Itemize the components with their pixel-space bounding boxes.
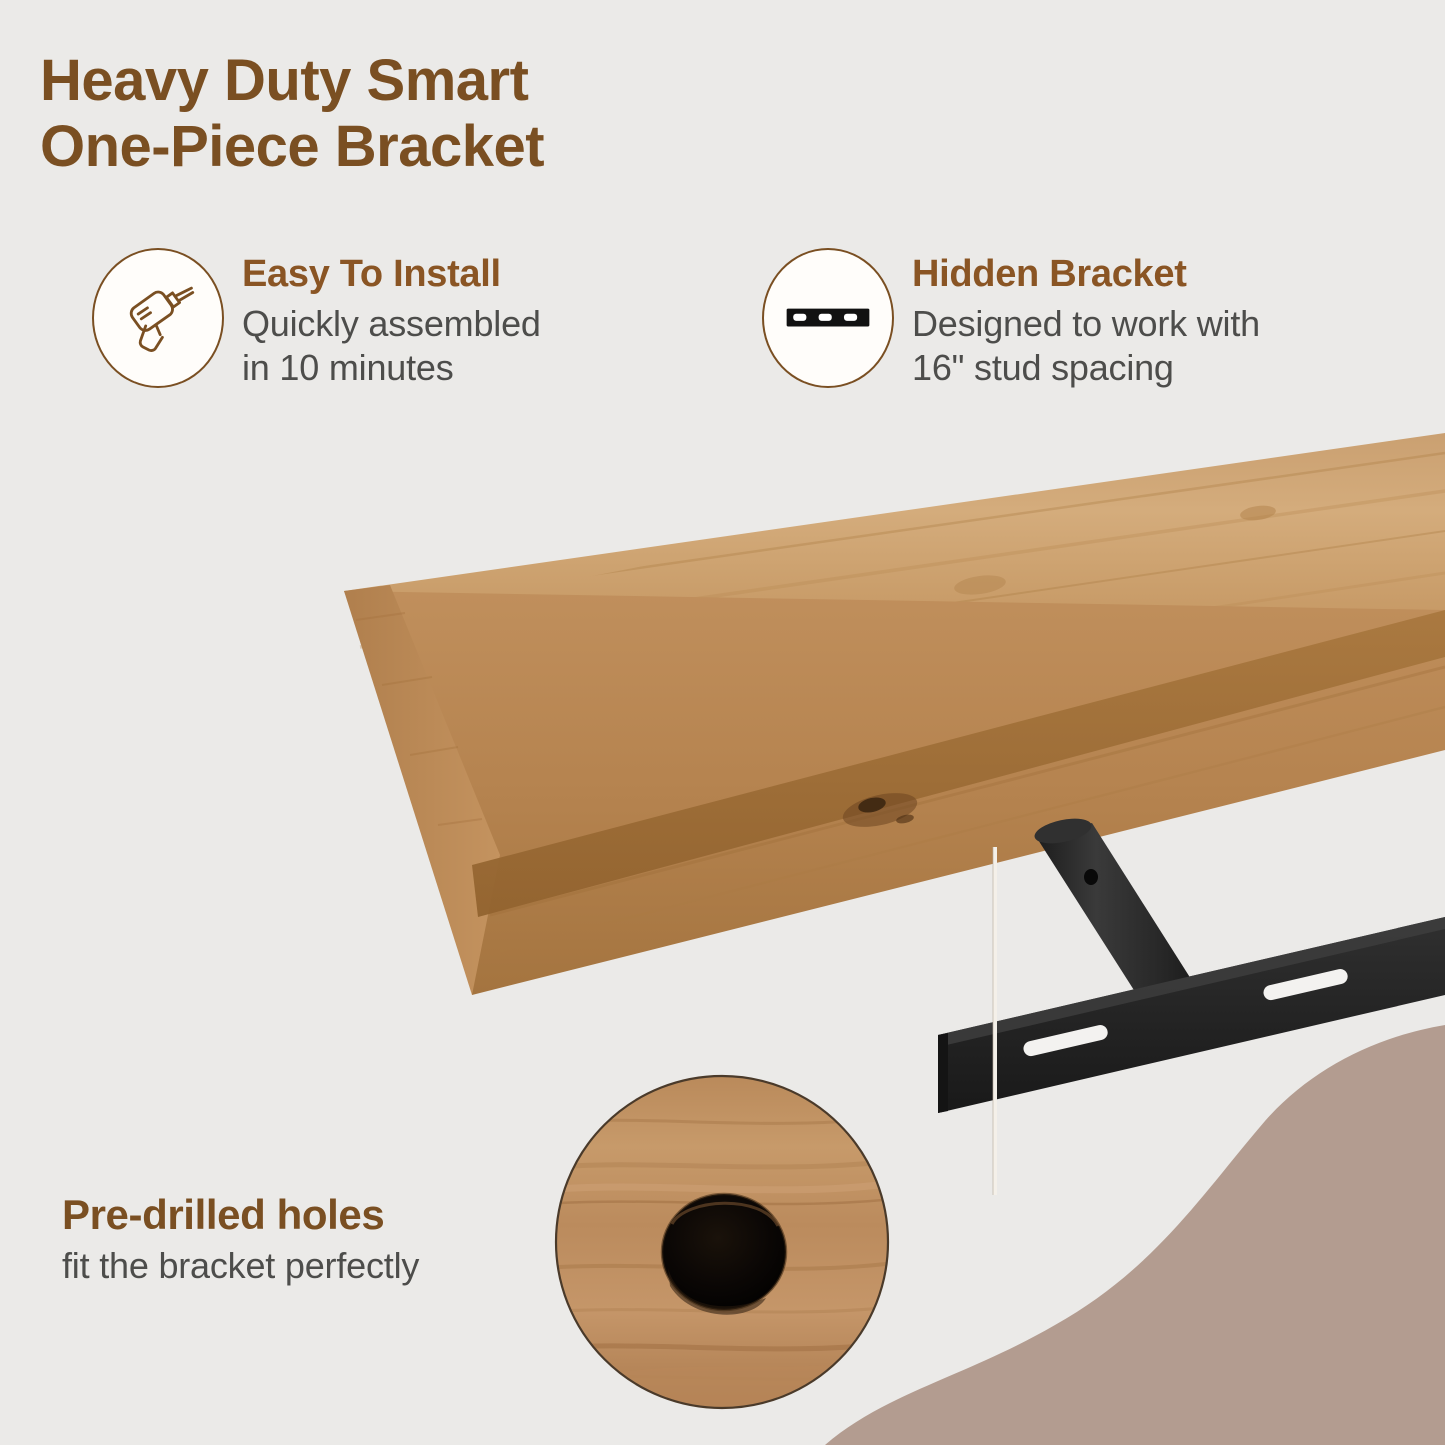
title-line-2: One-Piece Bracket: [40, 114, 800, 180]
feature-easy-to-install: Easy To Install Quickly assembled in 10 …: [92, 248, 541, 390]
feature-body: Designed to work with 16" stud spacing: [912, 302, 1260, 390]
magnifier-predrilled-hole: [552, 1072, 892, 1412]
feature-body: Quickly assembled in 10 minutes: [242, 302, 541, 390]
feature-body-line-2: 16" stud spacing: [912, 346, 1260, 390]
feature-title: Hidden Bracket: [912, 254, 1260, 296]
feature-text: Easy To Install Quickly assembled in 10 …: [242, 248, 541, 390]
title-line-1: Heavy Duty Smart: [40, 48, 528, 113]
drill-icon: [114, 274, 202, 362]
feature-icon-badge: [762, 248, 894, 388]
feature-body-line-1: Designed to work with: [912, 302, 1260, 346]
infographic-canvas: Heavy Duty Smart One-Piece Bracket: [0, 0, 1445, 1445]
feature-text: Hidden Bracket Designed to work with 16"…: [912, 248, 1260, 390]
feature-title: Easy To Install: [242, 254, 541, 296]
feature-body-line-1: Quickly assembled: [242, 302, 541, 346]
page-title: Heavy Duty Smart One-Piece Bracket: [40, 48, 800, 179]
feature-hidden-bracket: Hidden Bracket Designed to work with 16"…: [762, 248, 1260, 390]
callout-predrilled-holes: Pre-drilled holes fit the bracket perfec…: [62, 1192, 419, 1287]
feature-body-line-2: in 10 minutes: [242, 346, 541, 390]
callout-title: Pre-drilled holes: [62, 1192, 419, 1238]
bracket-bar-icon: [781, 271, 875, 365]
callout-subtitle: fit the bracket perfectly: [62, 1245, 419, 1287]
feature-icon-badge: [92, 248, 224, 388]
